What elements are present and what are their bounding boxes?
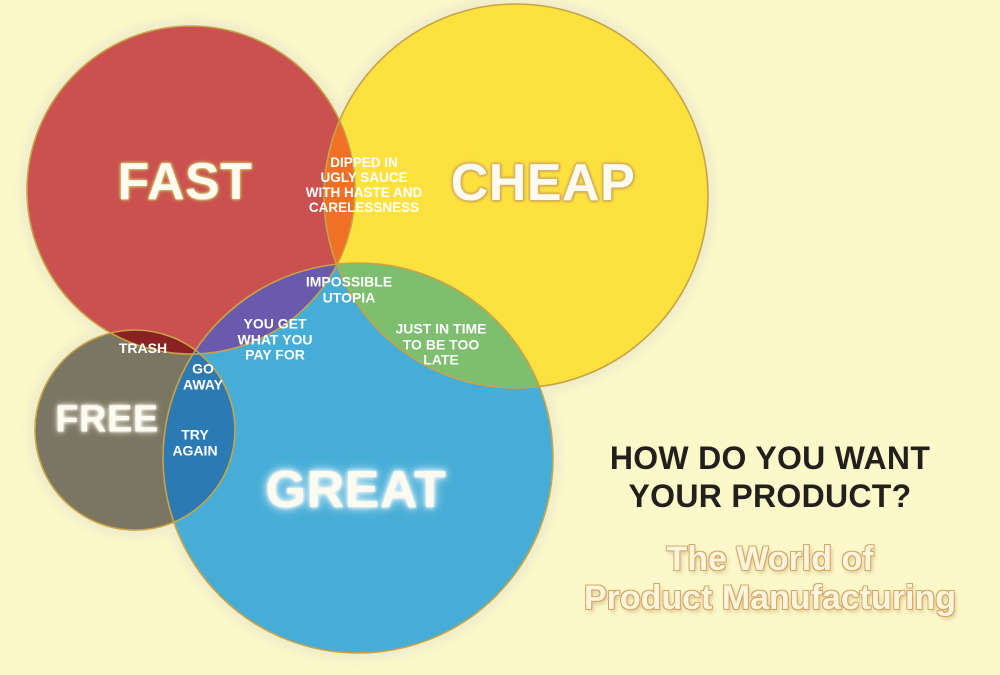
infographic-canvas: FAST CHEAP GREAT FREE DIPPED IN UGLY SAU… <box>0 0 1000 675</box>
headline: HOW DO YOU WANT YOUR PRODUCT? <box>560 440 980 516</box>
subheadline: The World of Product Manufacturing <box>560 540 980 619</box>
